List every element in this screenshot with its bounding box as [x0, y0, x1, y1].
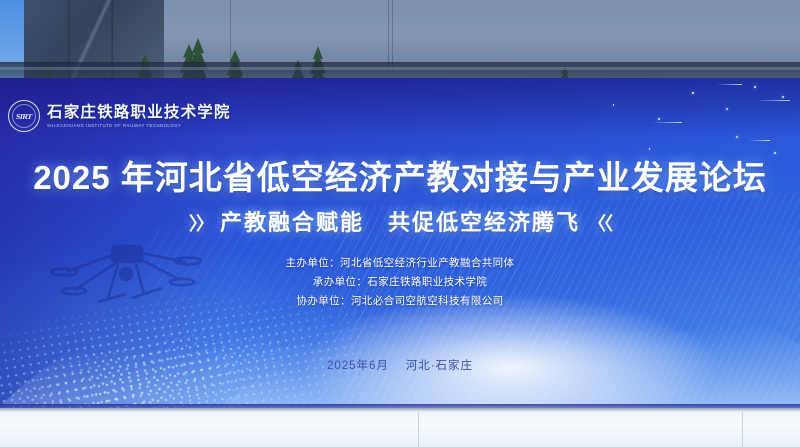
organizer-list: 主办单位：河北省低空经济行业产教融合共同体 承办单位：石家庄铁路职业技术学院 协… [0, 254, 800, 311]
institution-name-en: SHIJIAZHUANG INSTITUTE OF RAILWAY TECHNO… [47, 123, 231, 128]
organizer-role: 承办单位： [313, 276, 368, 288]
lower-wall [0, 408, 800, 447]
chevron-right-icon: 〉〉 [189, 214, 212, 234]
event-date-location: 2025年6月 河北·石家庄 [0, 357, 800, 373]
railing [0, 62, 800, 78]
event-location: 河北·石家庄 [406, 360, 473, 372]
organizer-row: 承办单位：石家庄铁路职业技术学院 [0, 273, 800, 292]
organizer-role: 主办单位： [286, 257, 341, 269]
organizer-name: 河北必合司空航空科技有限公司 [351, 295, 504, 307]
seal-icon: SIRT [8, 100, 40, 132]
organizer-role: 协办单位： [296, 295, 351, 307]
organizer-row: 协办单位：河北必合司空航空科技有限公司 [0, 292, 800, 311]
banner-subtitle: 〉〉产教融合赋能 共促低空经济腾飞〈〈 [0, 205, 800, 237]
center-glow [300, 293, 720, 413]
event-banner: SIRT 石家庄铁路职业技术学院 SHIJIAZHUANG INSTITUTE … [0, 78, 800, 413]
chevron-left-icon: 〈〈 [588, 214, 611, 234]
organizer-name: 河北省低空经济行业产教融合共同体 [340, 257, 514, 269]
banner-title: 2025 年河北省低空经济产教对接与产业发展论坛 [0, 151, 800, 199]
institution-logo: SIRT 石家庄铁路职业技术学院 SHIJIAZHUANG INSTITUTE … [8, 100, 231, 132]
event-date: 2025年6月 [327, 360, 389, 372]
logo-mark-text: SIRT [15, 112, 33, 121]
banner-subtitle-text: 产教融合赋能 共促低空经济腾飞 [220, 210, 580, 235]
conference-banner-photo: SIRT 石家庄铁路职业技术学院 SHIJIAZHUANG INSTITUTE … [0, 0, 800, 447]
institution-name-cn: 石家庄铁路职业技术学院 [47, 104, 231, 122]
organizer-row: 主办单位：河北省低空经济行业产教融合共同体 [0, 254, 800, 273]
organizer-name: 石家庄铁路职业技术学院 [367, 276, 487, 288]
